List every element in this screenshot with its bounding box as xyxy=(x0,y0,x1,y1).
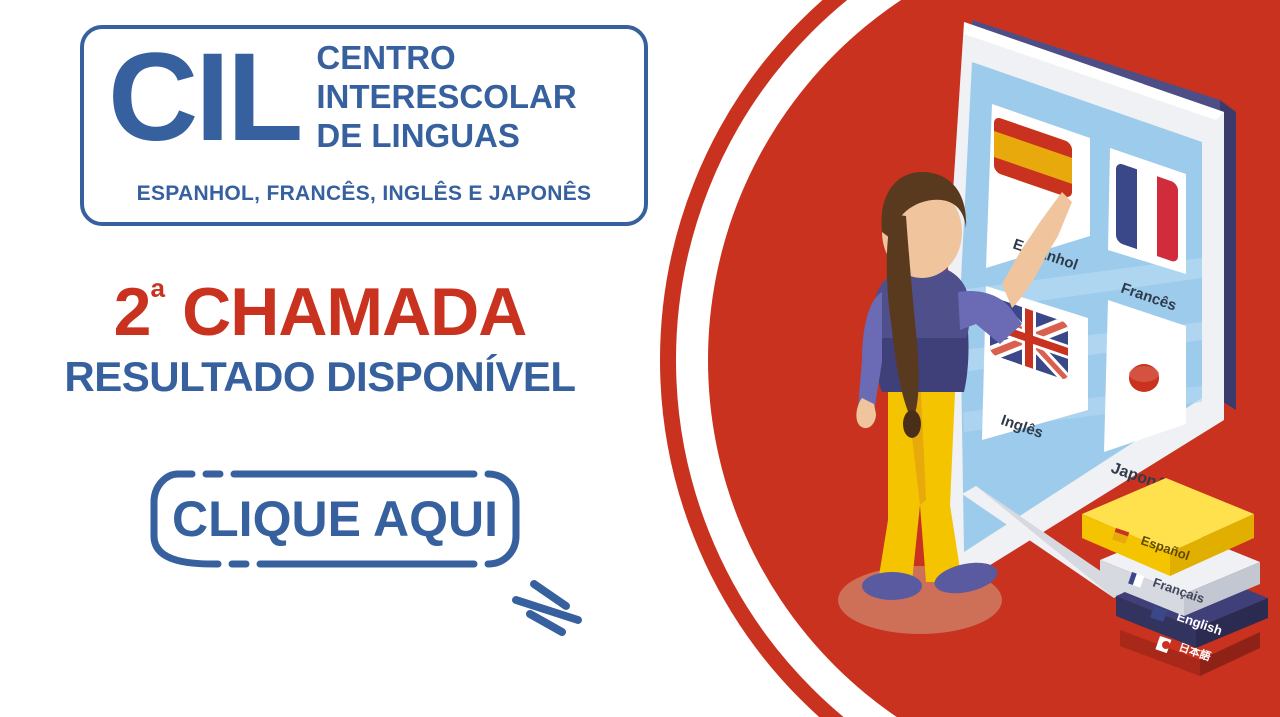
headline-number: 2 xyxy=(114,274,151,350)
logo-name-line-3: DE LINGUAS xyxy=(316,117,576,156)
headline-ordinal: ª xyxy=(150,276,164,320)
promotional-banner: Espanhol Francês xyxy=(0,0,1280,717)
logo-languages-line: ESPANHOL, FRANCÊS, INGLÊS E JAPONÊS xyxy=(84,182,644,206)
motion-lines-icon xyxy=(500,556,620,636)
logo-main-row: CIL CENTRO INTERESCOLAR DE LINGUAS xyxy=(84,35,644,160)
headline-block: 2ª CHAMADA RESULTADO DISPONÍVEL xyxy=(0,278,660,398)
cta-label[interactable]: CLIQUE AQUI xyxy=(148,468,522,570)
headline-main-word: CHAMADA xyxy=(164,274,526,350)
logo-name-line-1: CENTRO xyxy=(316,39,576,78)
book-stack: 日本語 English Français xyxy=(1082,478,1268,676)
cta-area: CLIQUE AQUI xyxy=(148,468,528,573)
content-column: CIL CENTRO INTERESCOLAR DE LINGUAS ESPAN… xyxy=(0,0,660,717)
headline-sub: RESULTADO DISPONÍVEL xyxy=(0,356,640,398)
cil-logo: CIL CENTRO INTERESCOLAR DE LINGUAS ESPAN… xyxy=(80,25,648,226)
language-learning-illustration: Espanhol Francês xyxy=(620,0,1280,717)
logo-name-line-2: INTERESCOLAR xyxy=(316,78,576,117)
logo-acronym: CIL xyxy=(108,35,300,160)
artwork-zone: Espanhol Francês xyxy=(620,0,1280,717)
logo-full-name: CENTRO INTERESCOLAR DE LINGUAS xyxy=(316,39,576,156)
headline-main: 2ª CHAMADA xyxy=(0,278,640,346)
